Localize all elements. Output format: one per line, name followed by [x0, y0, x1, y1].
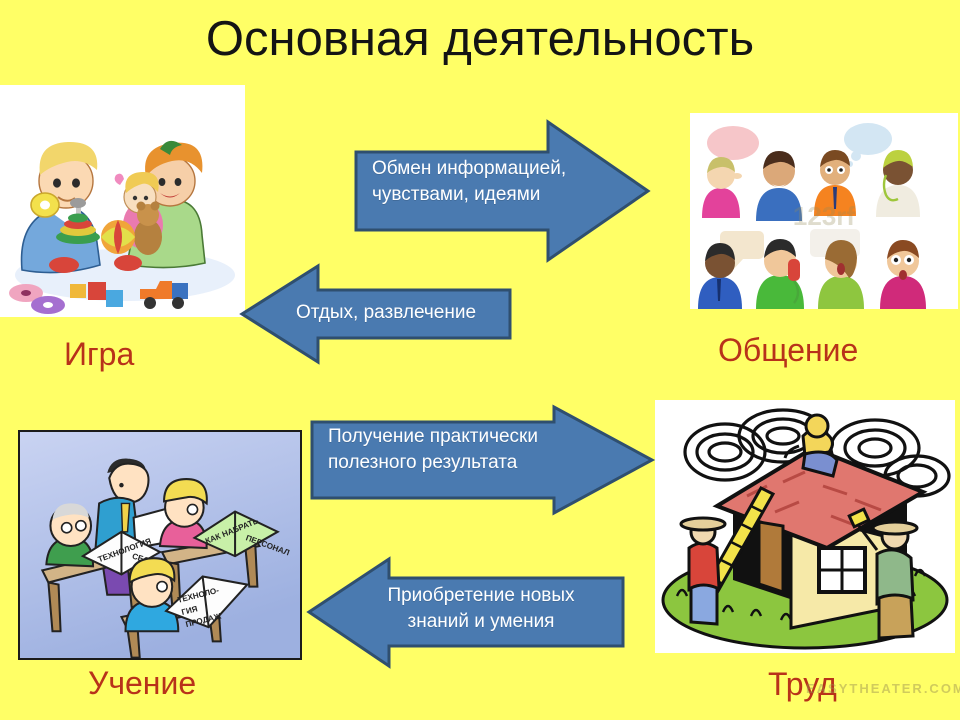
- illustration-work: [655, 400, 955, 653]
- arrow-rest-entertainment: Отдых, развлечение: [238, 262, 514, 366]
- svg-text:123rf: 123rf: [793, 201, 855, 231]
- slide-canvas: Основная деятельность: [0, 0, 960, 720]
- arrow-practical-result-label: Получение практически полезного результа…: [328, 424, 576, 476]
- students-reading-illustration: ТЕХНОЛОГИЯ СБОРКИ КАК НАБРАТЬ ПЕРСОНАЛ: [20, 432, 300, 658]
- illustration-learning: ТЕХНОЛОГИЯ СБОРКИ КАК НАБРАТЬ ПЕРСОНАЛ: [18, 430, 302, 660]
- people-talking-illustration: 123rf: [690, 113, 958, 309]
- category-label-communication: Общение: [718, 332, 858, 368]
- illustration-play: [0, 85, 245, 317]
- arrow-practical-result: Получение практически полезного результа…: [308, 404, 656, 516]
- children-playing-illustration: [0, 85, 245, 317]
- illustration-communication: 123rf: [690, 113, 958, 309]
- category-label-play: Игра: [64, 336, 134, 372]
- arrow-exchange-information: Обмен информацией, чувствами, идеями: [352, 118, 652, 264]
- arrow-new-knowledge: Приобретение новых знаний и умения: [305, 556, 627, 669]
- arrow-rest-label: Отдых, развлечение: [268, 300, 504, 326]
- work-watermark: EASYTHEATER.COM: [806, 681, 960, 696]
- page-title: Основная деятельность: [0, 8, 960, 70]
- category-label-learning: Учение: [88, 665, 196, 701]
- building-house-illustration: [655, 400, 955, 653]
- arrow-new-knowledge-label: Приобретение новых знаний и умения: [357, 583, 605, 635]
- arrow-exchange-label: Обмен информацией, чувствами, идеями: [372, 156, 592, 208]
